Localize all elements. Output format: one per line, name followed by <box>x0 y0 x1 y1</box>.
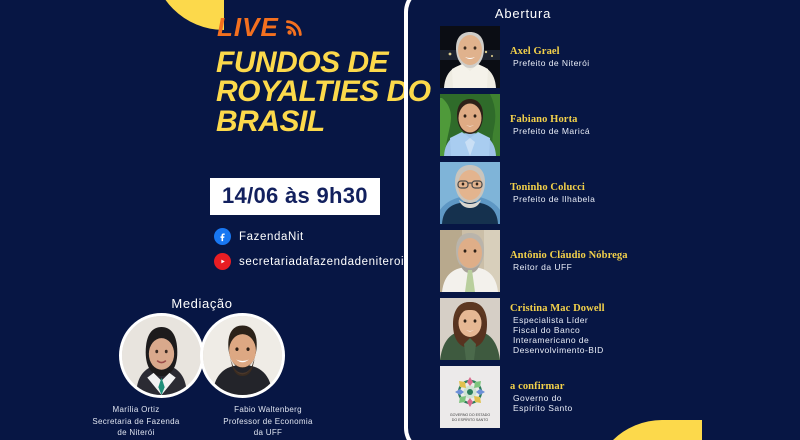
speaker-name: a confirmar <box>510 381 573 393</box>
speaker-row: Cristina Mac Dowell Especialista Líder F… <box>440 298 800 360</box>
speaker-role-line: Especialista Líder <box>513 315 605 325</box>
speaker-role: Reitor da UFF <box>510 262 628 272</box>
abertura-heading: Abertura <box>408 6 638 21</box>
mediation-role-2-line-2: da UFF <box>208 427 328 439</box>
page-title: FUNDOS DE ROYALTIES DO BRASIL <box>216 48 406 136</box>
youtube-icon <box>214 253 231 270</box>
speaker-name: Cristina Mac Dowell <box>510 303 605 315</box>
social-link-youtube[interactable]: secretariadafazendadeniteroi <box>214 253 404 270</box>
speaker-row: Antônio Cláudio Nóbrega Reitor da UFF <box>440 230 800 292</box>
portrait-fabio-waltenberg <box>200 313 285 398</box>
social-links: FazendaNit secretariadafazendadeniteroi <box>214 228 404 278</box>
portrait-axel-grael <box>440 26 500 88</box>
youtube-handle: secretariadafazendadeniteroi <box>239 256 404 268</box>
live-badge: LIVE <box>217 14 305 40</box>
facebook-handle: FazendaNit <box>239 231 304 243</box>
mediation-caption-1: Marília Ortiz Secretaria de Fazenda de N… <box>76 404 196 439</box>
mediation-photos <box>0 313 404 398</box>
speaker-role-line: Desenvolvimento-BID <box>513 345 605 355</box>
speaker-role-line: Prefeito de Maricá <box>513 126 590 136</box>
speaker-name: Fabiano Horta <box>510 114 590 126</box>
mediation-name-2: Fabio Waltenberg <box>208 404 328 416</box>
speaker-role-line: Espírito Santo <box>513 403 573 413</box>
speaker-role-line: Prefeito de Ilhabela <box>513 194 595 204</box>
speaker-name: Antônio Cláudio Nóbrega <box>510 250 628 262</box>
title-line-1: FUNDOS DE <box>216 48 406 77</box>
portrait-fabiano-horta <box>440 94 500 156</box>
speaker-row: Fabiano Horta Prefeito de Maricá <box>440 94 800 156</box>
speaker-role-line: Reitor da UFF <box>513 262 628 272</box>
speakers-panel: Abertura <box>404 0 800 440</box>
svg-text:GOVERNO DO ESTADO: GOVERNO DO ESTADO <box>450 413 490 417</box>
mediation-role-2-line-1: Professor de Economia <box>208 416 328 428</box>
mediation-role-1-line-1: Secretaria de Fazenda <box>76 416 196 428</box>
mediation-heading: Mediação <box>0 296 404 311</box>
title-line-2: ROYALTIES DO <box>216 77 406 106</box>
speaker-role-line: Governo do <box>513 393 573 403</box>
social-link-facebook[interactable]: FazendaNit <box>214 228 404 245</box>
date-banner: 14/06 às 9h30 <box>210 178 380 215</box>
speaker-role: Prefeito de Maricá <box>510 126 590 136</box>
speaker-role-line: Fiscal do Banco <box>513 325 605 335</box>
portrait-marilia-ortiz <box>119 313 204 398</box>
speaker-role-line: Interamericano de <box>513 335 605 345</box>
portrait-cristina-mac-dowell <box>440 298 500 360</box>
mediation-captions: Marília Ortiz Secretaria de Fazenda de N… <box>0 404 404 439</box>
speaker-role-line: Prefeito de Niterói <box>513 58 590 68</box>
portrait-toninho-colucci <box>440 162 500 224</box>
speaker-row: Axel Grael Prefeito de Niterói <box>440 26 800 88</box>
poster-canvas: LIVE FUNDOS DE ROYALTIES DO BRASIL 14/06… <box>0 0 800 440</box>
speaker-name: Toninho Colucci <box>510 182 595 194</box>
speaker-role: Prefeito de Ilhabela <box>510 194 595 204</box>
facebook-icon <box>214 228 231 245</box>
speaker-role: Governo do Espírito Santo <box>510 393 573 413</box>
speaker-name: Axel Grael <box>510 46 590 58</box>
speaker-role: Prefeito de Niterói <box>510 58 590 68</box>
speaker-role: Especialista Líder Fiscal do Banco Inter… <box>510 315 605 355</box>
mediation-caption-2: Fabio Waltenberg Professor de Economia d… <box>208 404 328 439</box>
speaker-row: Toninho Colucci Prefeito de Ilhabela <box>440 162 800 224</box>
title-line-3: BRASIL <box>216 107 406 136</box>
live-label: LIVE <box>217 14 279 40</box>
mediation-name-1: Marília Ortiz <box>76 404 196 416</box>
speaker-name-text: Antônio Cláudio Nóbrega <box>510 250 628 261</box>
rss-broadcast-icon <box>285 17 305 37</box>
speakers-list: Axel Grael Prefeito de Niterói <box>440 26 800 434</box>
left-column: LIVE FUNDOS DE ROYALTIES DO BRASIL 14/06… <box>0 0 404 440</box>
svg-text:DO ESPÍRITO SANTO: DO ESPÍRITO SANTO <box>452 418 489 422</box>
portrait-antonio-claudio-nobrega <box>440 230 500 292</box>
logo-governo-espirito-santo: GOVERNO DO ESTADO DO ESPÍRITO SANTO <box>440 366 500 428</box>
mediation-role-1-line-2: de Niterói <box>76 427 196 439</box>
speaker-row: GOVERNO DO ESTADO DO ESPÍRITO SANTO a co… <box>440 366 800 428</box>
